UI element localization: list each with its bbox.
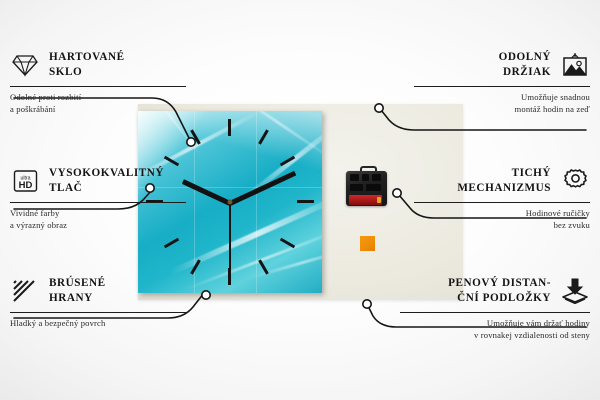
connector-node-right-3 (363, 300, 371, 308)
feature-header: ultra HD VYSOKOKVALITNÝ TLAČ (10, 164, 186, 198)
product-infographic: HARTOVANÉ SKLO Odolné proti rozbití a po… (0, 0, 600, 400)
battery-terminal (377, 197, 381, 203)
feature-silent-mechanism: TICHÝ MECHANIZMUS Hodinové ručičky bez z… (414, 164, 590, 232)
feature-description: Hodinové ručičky bez zvuku (414, 207, 590, 232)
mechanism-detail (372, 174, 381, 181)
feature-description: Hladký a bezpečný povrch (10, 317, 186, 329)
feature-header: BRÚSENÉ HRANY (10, 274, 186, 308)
feature-title: PENOVÝ DISTAN- ČNÍ PODLOŽKY (400, 276, 551, 305)
feature-divider (400, 312, 590, 313)
ultra-hd-badge-icon: ultra HD (10, 166, 40, 196)
feature-description: Vividné farby a výrazný obraz (10, 207, 186, 232)
mechanism-detail (366, 184, 381, 191)
hour-tick (228, 119, 231, 136)
diamond-icon (10, 50, 40, 80)
foam-spacer-icon (560, 276, 590, 306)
feature-title-line1: HARTOVANÉ (49, 51, 125, 63)
feature-tempered-glass: HARTOVANÉ SKLO Odolné proti rozbití a po… (10, 48, 186, 116)
feature-title-line1: ODOLNÝ (499, 51, 551, 63)
feature-title: VYSOKOKVALITNÝ TLAČ (49, 166, 186, 195)
feature-header: HARTOVANÉ SKLO (10, 48, 186, 82)
feature-durable-hanger: ODOLNÝ DRŽIAK Umožňuje snadnou montáž ho… (414, 48, 590, 116)
feature-title-line2: ČNÍ PODLOŽKY (457, 292, 551, 304)
feature-desc-line2: v rovnakej vzdialenosti od steny (474, 330, 590, 340)
feature-divider (414, 86, 590, 87)
foam-spacer-pad (360, 236, 378, 254)
feature-desc-line1: Umožňuje snadnou (521, 92, 590, 102)
mechanism-detail (350, 174, 359, 181)
feature-divider (414, 202, 590, 203)
feature-foam-spacers: PENOVÝ DISTAN- ČNÍ PODLOŽKY Umožňuje vám… (400, 274, 590, 342)
feature-title-line1: VYSOKOKVALITNÝ (49, 167, 164, 179)
pad-surface (360, 236, 375, 251)
feature-desc-line1: Hladký a bezpečný povrch (10, 318, 105, 328)
feature-divider (10, 312, 186, 313)
svg-text:HD: HD (18, 180, 32, 191)
feature-desc-line2: montáž hodin na zeď (515, 104, 590, 114)
feature-desc-line1: Umožňuje vám držať hodiny (487, 318, 590, 328)
mechanism-detail (362, 174, 369, 181)
feature-divider (10, 202, 186, 203)
clock-mechanism (346, 166, 387, 206)
feature-title-line1: BRÚSENÉ (49, 277, 106, 289)
glass-panel-line (256, 111, 257, 293)
feature-title: TICHÝ MECHANIZMUS (414, 166, 551, 195)
feature-title-line1: PENOVÝ DISTAN- (448, 277, 551, 289)
feature-header: PENOVÝ DISTAN- ČNÍ PODLOŽKY (400, 274, 590, 308)
feature-description: Umožňuje snadnou montáž hodin na zeď (414, 91, 590, 116)
feature-title: HARTOVANÉ SKLO (49, 50, 186, 79)
feature-header: ODOLNÝ DRŽIAK (414, 48, 590, 82)
feature-title-line2: TLAČ (49, 182, 82, 194)
feature-desc-line1: Odolné proti rozbití (10, 92, 81, 102)
feature-title-line2: SKLO (49, 66, 82, 78)
gear-icon (560, 166, 590, 196)
beveled-edges-icon (10, 276, 40, 306)
feature-desc-line1: Hodinové ručičky (526, 208, 590, 218)
feature-beveled-edges: BRÚSENÉ HRANY Hladký a bezpečný povrch (10, 274, 186, 329)
feature-title-line2: MECHANIZMUS (457, 182, 551, 194)
feature-desc-line2: bez zvuku (554, 220, 590, 230)
mechanism-battery (349, 195, 382, 205)
clock-second-hand (229, 203, 231, 281)
feature-desc-line1: Vividné farby (10, 208, 59, 218)
feature-title-line2: DRŽIAK (503, 66, 551, 78)
feature-high-quality-print: ultra HD VYSOKOKVALITNÝ TLAČ Vividné far… (10, 164, 186, 232)
mechanism-body (346, 171, 387, 206)
clock-center-hub (228, 200, 233, 205)
feature-divider (10, 86, 186, 87)
mechanism-detail (350, 184, 363, 191)
feature-description: Odolné proti rozbití a poškrábání (10, 91, 186, 116)
wall-frame-icon (560, 50, 590, 80)
feature-header: TICHÝ MECHANIZMUS (414, 164, 590, 198)
feature-title-line2: HRANY (49, 292, 93, 304)
feature-description: Umožňuje vám držať hodiny v rovnakej vzd… (400, 317, 590, 342)
feature-title: ODOLNÝ DRŽIAK (414, 50, 551, 79)
feature-desc-line2: a výrazný obraz (10, 220, 67, 230)
hour-tick (297, 200, 314, 203)
feature-desc-line2: a poškrábání (10, 104, 55, 114)
feature-title-line1: TICHÝ (512, 167, 551, 179)
feature-title: BRÚSENÉ HRANY (49, 276, 186, 305)
